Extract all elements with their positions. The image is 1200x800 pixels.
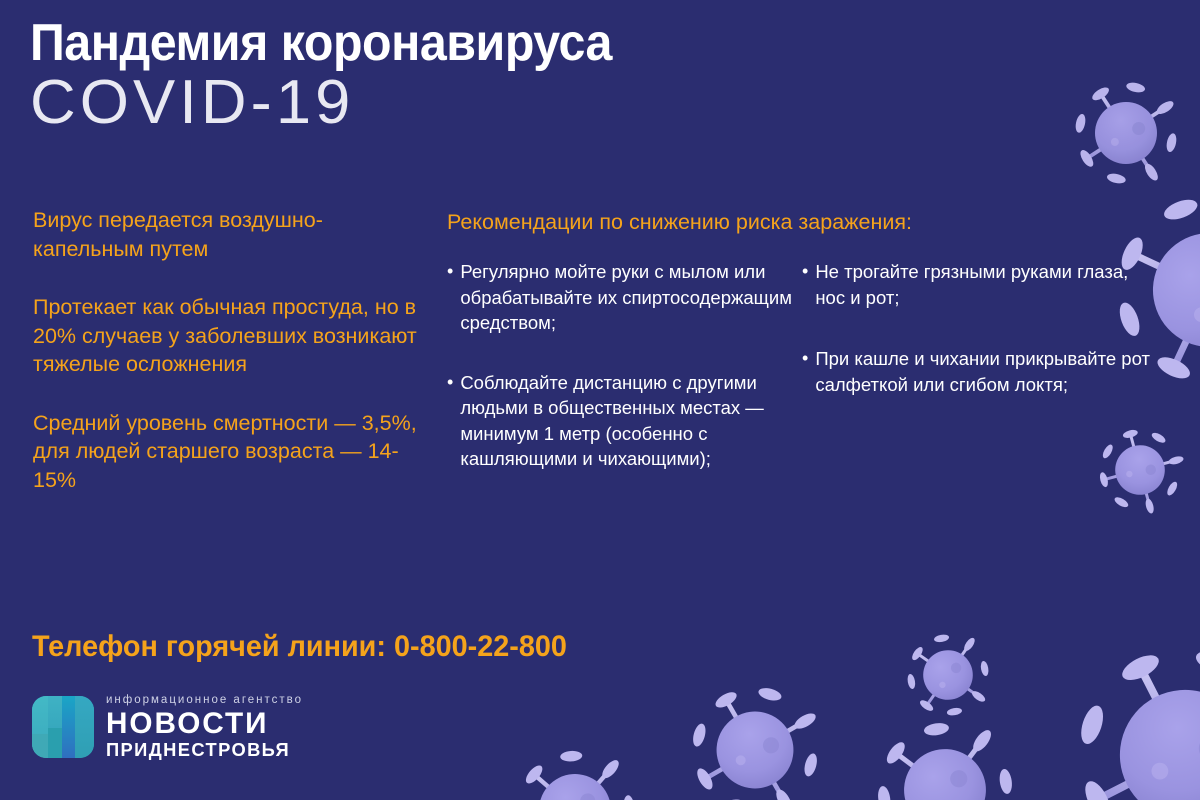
bullet-icon: • (447, 370, 453, 472)
list-item-text: Соблюдайте дистанцию с другими людьми в … (460, 370, 802, 472)
list-item: • Соблюдайте дистанцию с другими людьми … (447, 370, 802, 472)
page-subtitle: COVID-19 (30, 70, 668, 136)
bullet-icon: • (447, 259, 453, 336)
list-item: • Не трогайте грязными руками глаза, нос… (802, 259, 1157, 310)
fact-item: Вирус передается воздушно-капельным путе… (33, 206, 428, 263)
poster-content: Пандемия коронавируса COVID-19 Вирус пер… (0, 0, 1200, 800)
recommendations-section: Рекомендации по снижению риска заражения… (447, 208, 1157, 506)
recommendations-heading: Рекомендации по снижению риска заражения… (447, 208, 927, 237)
hotline-text: Телефон горячей линии: 0-800-22-800 (32, 629, 567, 665)
bullet-icon: • (802, 346, 808, 397)
logo-text-block: информационное агентство НОВОСТИ ПРИДНЕС… (106, 694, 303, 760)
fact-item: Протекает как обычная простуда, но в 20%… (33, 293, 428, 379)
list-item-text: Не трогайте грязными руками глаза, нос и… (815, 259, 1157, 310)
logo-region: ПРИДНЕСТРОВЬЯ (106, 739, 301, 760)
agency-logo: информационное агентство НОВОСТИ ПРИДНЕС… (32, 694, 303, 760)
list-item-text: Регулярно мойте руки с мылом или обрабат… (460, 259, 802, 336)
logo-kicker: информационное агентство (106, 694, 303, 707)
logo-mark-icon (32, 696, 94, 758)
fact-item: Средний уровень смертности — 3,5%, для л… (33, 409, 428, 495)
logo-name: НОВОСТИ (106, 708, 301, 739)
recommendations-column-right: • Не трогайте грязными руками глаза, нос… (802, 259, 1157, 506)
list-item: • При кашле и чихании прикрывайте рот са… (802, 346, 1157, 397)
poster-canvas: Пандемия коронавируса COVID-19 Вирус пер… (0, 0, 1200, 800)
page-title: Пандемия коронавируса (30, 14, 612, 72)
bullet-icon: • (802, 259, 808, 310)
list-item-text: При кашле и чихании прикрывайте рот салф… (815, 346, 1157, 397)
title-block: Пандемия коронавируса COVID-19 (30, 14, 656, 136)
facts-column: Вирус передается воздушно-капельным путе… (33, 206, 428, 494)
recommendations-column-left: • Регулярно мойте руки с мылом или обраб… (447, 259, 802, 506)
list-item: • Регулярно мойте руки с мылом или обраб… (447, 259, 802, 336)
recommendations-grid: • Регулярно мойте руки с мылом или обраб… (447, 259, 1157, 506)
